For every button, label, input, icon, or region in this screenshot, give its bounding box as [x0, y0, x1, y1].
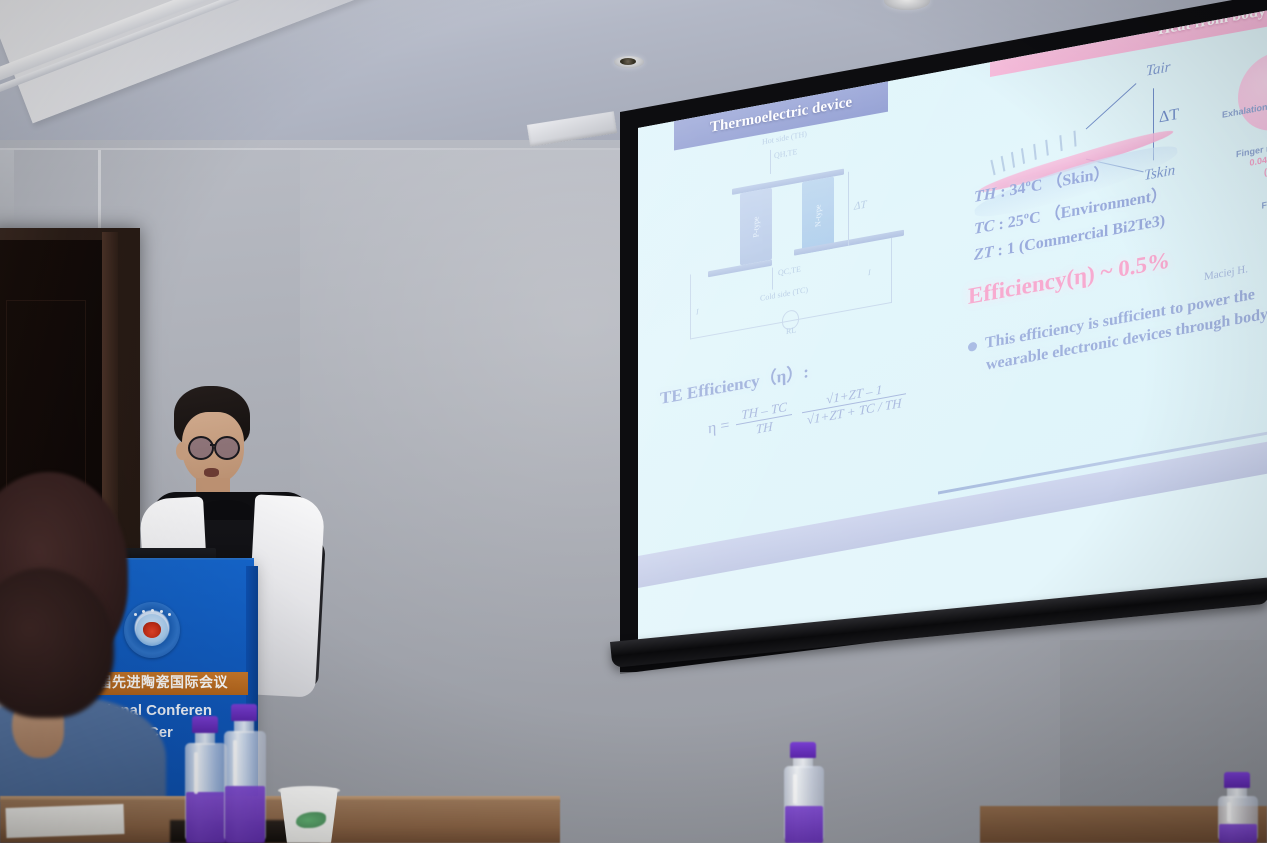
bottle-label — [1219, 824, 1257, 843]
speaker-mouth — [204, 468, 219, 477]
screen-weight-bar — [610, 578, 1267, 668]
bottle-highlight — [194, 752, 198, 794]
bottle-cap — [1224, 772, 1250, 788]
bottle-highlight — [1227, 802, 1231, 822]
photo-scene: Power generation by body temperature The… — [0, 0, 1267, 843]
bottle-highlight — [793, 774, 797, 804]
bottle-cap — [231, 704, 257, 721]
screen-weight-bar-wrap — [604, 0, 1267, 682]
water-bottle[interactable] — [222, 704, 270, 843]
bottle-label — [225, 786, 265, 843]
projection-screen: Power generation by body temperature The… — [604, 0, 1267, 682]
bottle-label — [785, 806, 823, 843]
speaker-collar — [200, 500, 252, 520]
bottle-label — [186, 792, 226, 843]
bottle-cap — [790, 742, 816, 758]
water-bottle[interactable] — [1214, 772, 1262, 843]
bottle-cap — [192, 716, 218, 733]
water-bottle[interactable] — [780, 742, 828, 843]
speaker-ear — [176, 442, 188, 460]
audience-member — [0, 472, 176, 843]
bottle-highlight — [233, 740, 237, 786]
speaker-glasses-right-lens — [214, 436, 240, 460]
paper-sheet — [6, 804, 125, 838]
speaker-glasses-bridge — [210, 444, 216, 446]
speaker-glasses-left-lens — [188, 436, 214, 460]
